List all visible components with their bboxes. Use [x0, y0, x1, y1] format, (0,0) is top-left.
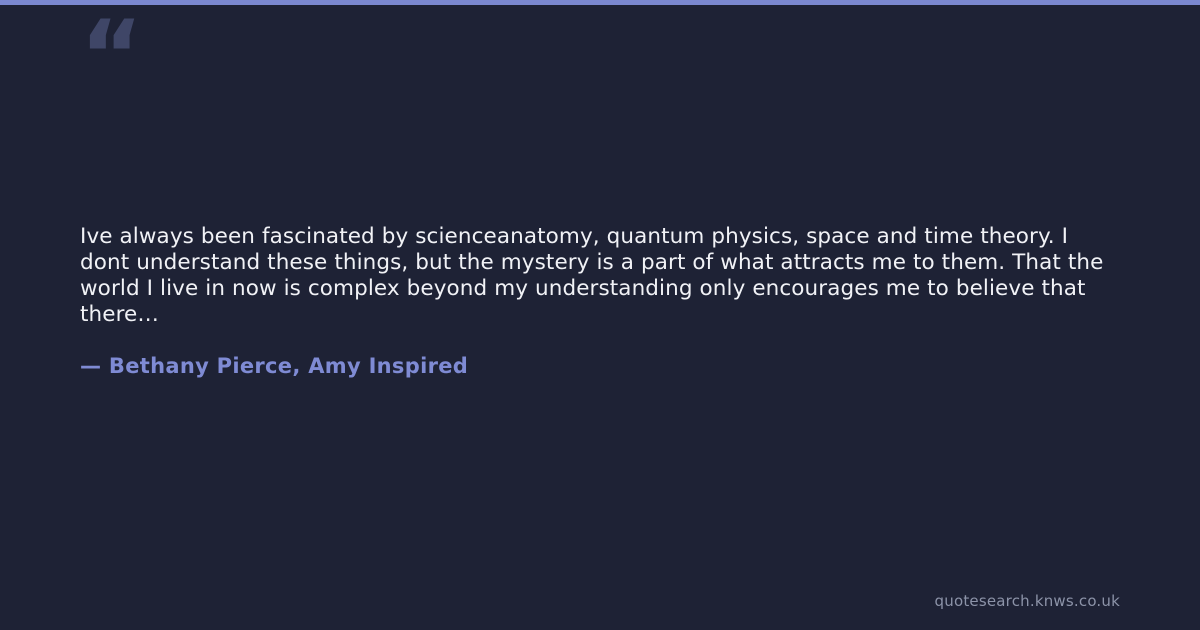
open-quote-icon: “: [80, 8, 143, 104]
quote-text: Ive always been fascinated by scienceana…: [80, 224, 1124, 328]
quote-body: Ive always been fascinated by scienceana…: [80, 224, 1124, 328]
quote-attribution: — Bethany Pierce, Amy Inspired: [80, 354, 468, 378]
site-url-label: quotesearch.knws.co.uk: [935, 592, 1120, 610]
top-accent-bar: [0, 0, 1200, 5]
quote-card: “ Ive always been fascinated by sciencea…: [0, 0, 1200, 630]
